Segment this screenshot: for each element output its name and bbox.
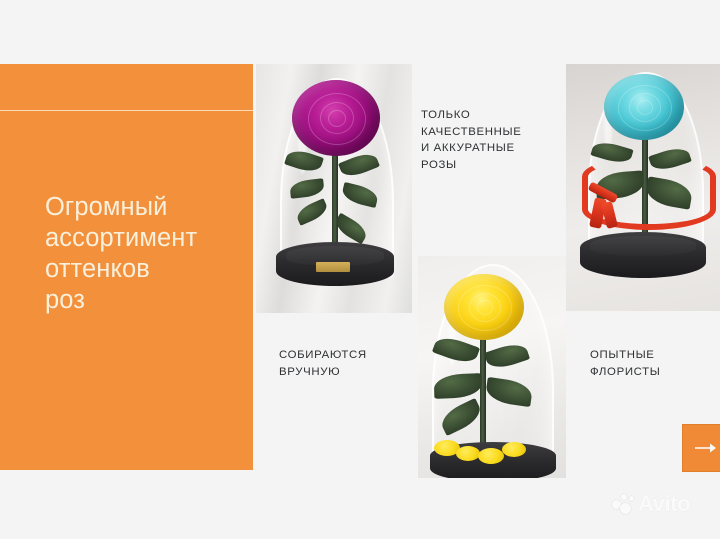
caption-florists: ОПЫТНЫЕ ФЛОРИСТЫ [590,347,710,380]
engraved-plaque [316,262,350,272]
page-title: Огромный ассортимент оттенков роз [45,192,255,316]
promo-banner: Огромный ассортимент оттенков роз [0,0,720,539]
photo-yellow-rose [418,256,566,478]
photo-turquoise-rose [566,64,720,311]
photo-magenta-rose [256,64,412,313]
rose-stem [332,148,338,256]
panel-divider-rule [0,110,253,111]
avito-watermark: Avito [612,494,690,514]
loose-petal [478,448,504,464]
loose-petal [502,442,526,457]
petal-swirl [328,110,346,127]
rose-bloom [604,74,684,140]
orange-headline-panel: Огромный ассортимент оттенков роз [0,64,253,470]
caption-handmade: СОБИРАЮТСЯ ВРУЧНУЮ [279,347,409,380]
petal-swirl [637,100,653,115]
rose-bloom [292,80,380,156]
avito-logo-icon [612,494,634,514]
avito-watermark-text: Avito [638,494,690,514]
petal-swirl [477,300,493,315]
dome-base-lip [590,236,696,256]
next-slide-button[interactable] [682,424,720,472]
caption-quality: ТОЛЬКО КАЧЕСТВЕННЫЕ И АККУРАТНЫЕ РОЗЫ [421,107,553,173]
rose-stem [480,332,486,446]
loose-petal [456,446,480,461]
rose-bloom [444,274,524,340]
arrow-right-icon [695,442,719,454]
